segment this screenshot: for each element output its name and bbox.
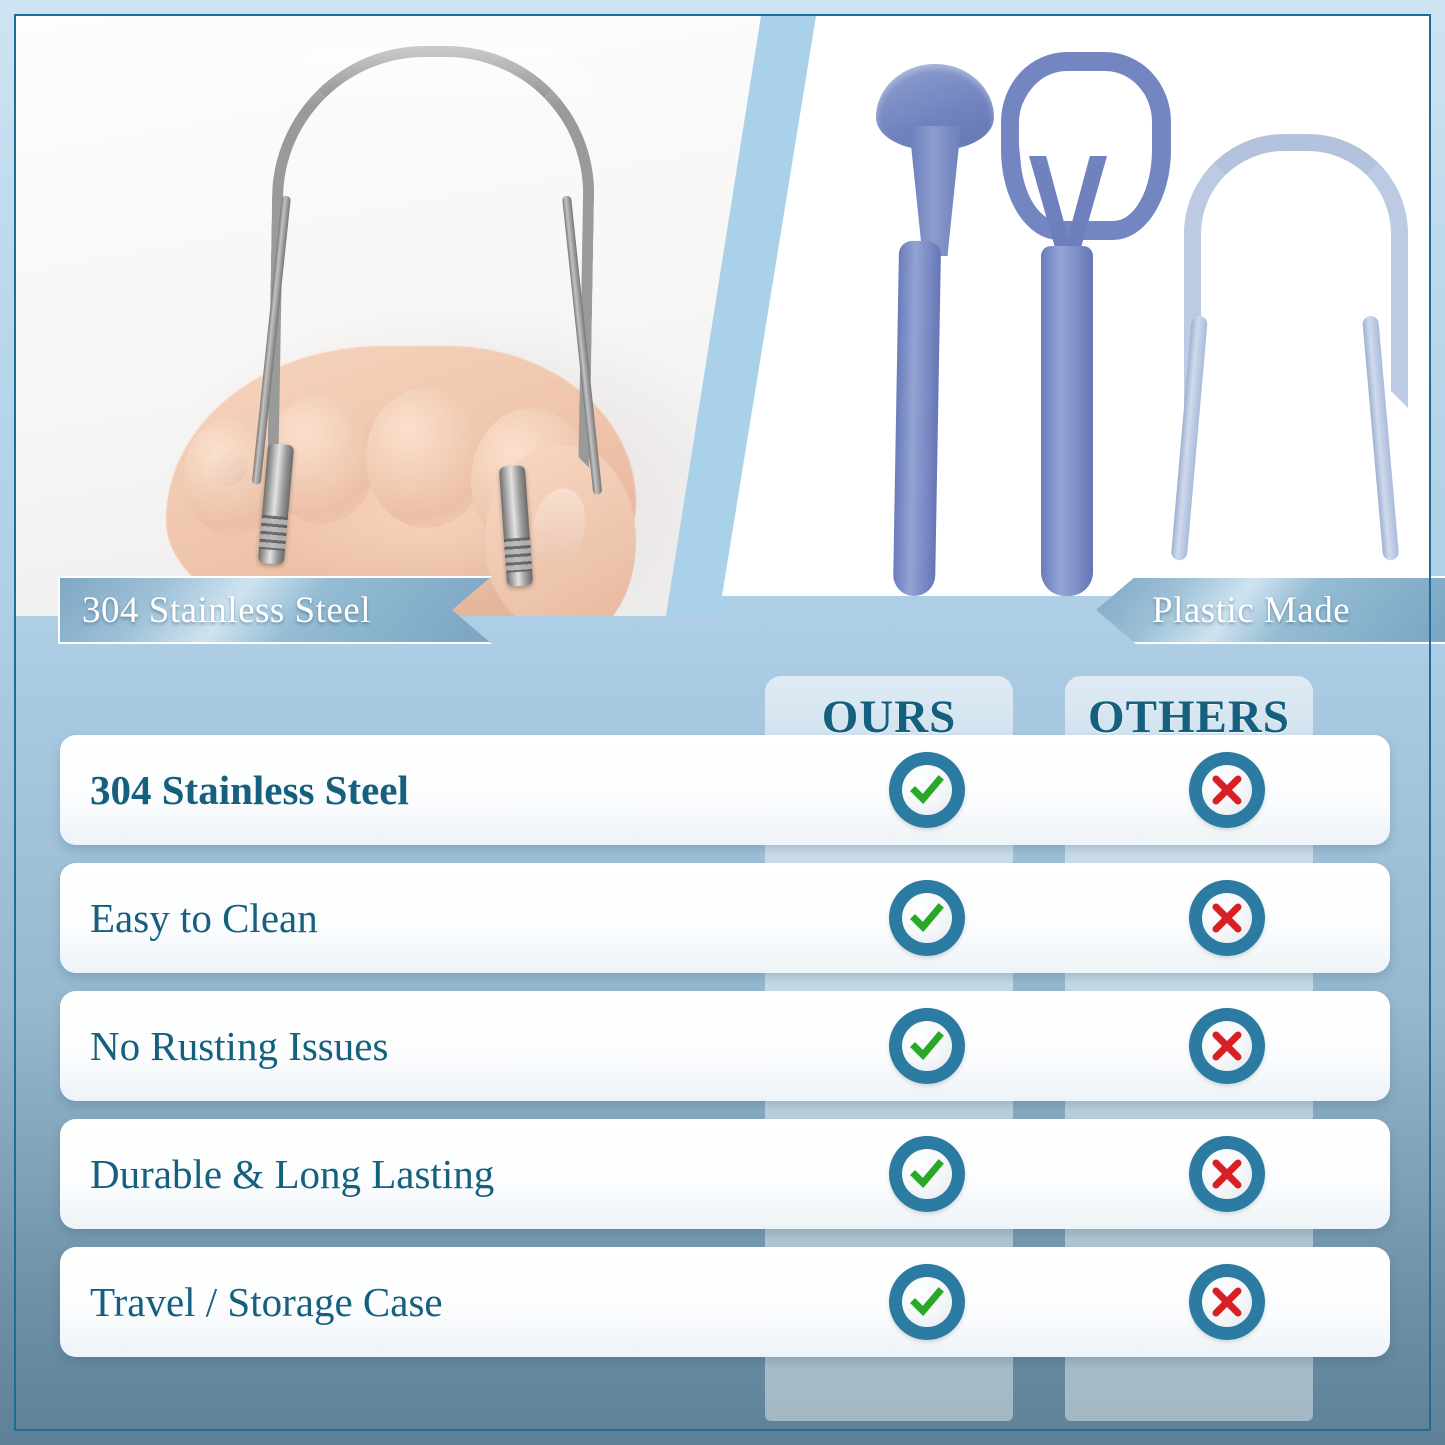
comparison-rows: 304 Stainless SteelEasy to CleanNo Rusti… (60, 735, 1390, 1375)
handle-ribs (504, 537, 532, 573)
check-icon-ours (889, 752, 965, 828)
check-icon-ours (889, 880, 965, 956)
banner-left-label: 304 Stainless Steel (82, 589, 371, 632)
cross-icon-others (1189, 1008, 1265, 1084)
cross-glyph (1202, 1277, 1252, 1327)
cross-icon-others (1189, 1264, 1265, 1340)
product-comparison-infographic: 304 Stainless Steel Plastic Made OURS OT… (0, 0, 1445, 1445)
handle-ribs (259, 515, 288, 551)
check-glyph (902, 893, 952, 943)
cross-icon-others (1189, 752, 1265, 828)
table-row: Easy to Clean (60, 863, 1390, 973)
check-glyph (902, 1149, 952, 1199)
table-row: Travel / Storage Case (60, 1247, 1390, 1357)
plastic-spoon-scraper-handle (893, 241, 941, 597)
feature-label: Travel / Storage Case (60, 1278, 443, 1326)
cross-icon-others (1189, 1136, 1265, 1212)
cross-glyph (1202, 765, 1252, 815)
check-icon-ours (889, 1136, 965, 1212)
banner-plastic-made: Plastic Made (1096, 576, 1445, 644)
table-row: Durable & Long Lasting (60, 1119, 1390, 1229)
plastic-loop-scraper-handle (1041, 246, 1093, 596)
feature-label: No Rusting Issues (60, 1022, 388, 1070)
check-icon-ours (889, 1264, 965, 1340)
banner-right-label: Plastic Made (1152, 589, 1350, 632)
table-row: No Rusting Issues (60, 991, 1390, 1101)
check-glyph (902, 1277, 952, 1327)
cross-icon-others (1189, 880, 1265, 956)
cross-glyph (1202, 893, 1252, 943)
table-row: 304 Stainless Steel (60, 735, 1390, 845)
check-icon-ours (889, 1008, 965, 1084)
steel-scraper-loop-icon (267, 46, 596, 468)
cross-glyph (1202, 1149, 1252, 1199)
check-glyph (902, 1021, 952, 1071)
cross-glyph (1202, 1021, 1252, 1071)
feature-label: 304 Stainless Steel (60, 766, 409, 814)
banner-stainless-steel: 304 Stainless Steel (58, 576, 492, 644)
feature-label: Easy to Clean (60, 894, 318, 942)
top-photo-area (16, 16, 1429, 641)
feature-label: Durable & Long Lasting (60, 1150, 494, 1198)
check-glyph (902, 765, 952, 815)
